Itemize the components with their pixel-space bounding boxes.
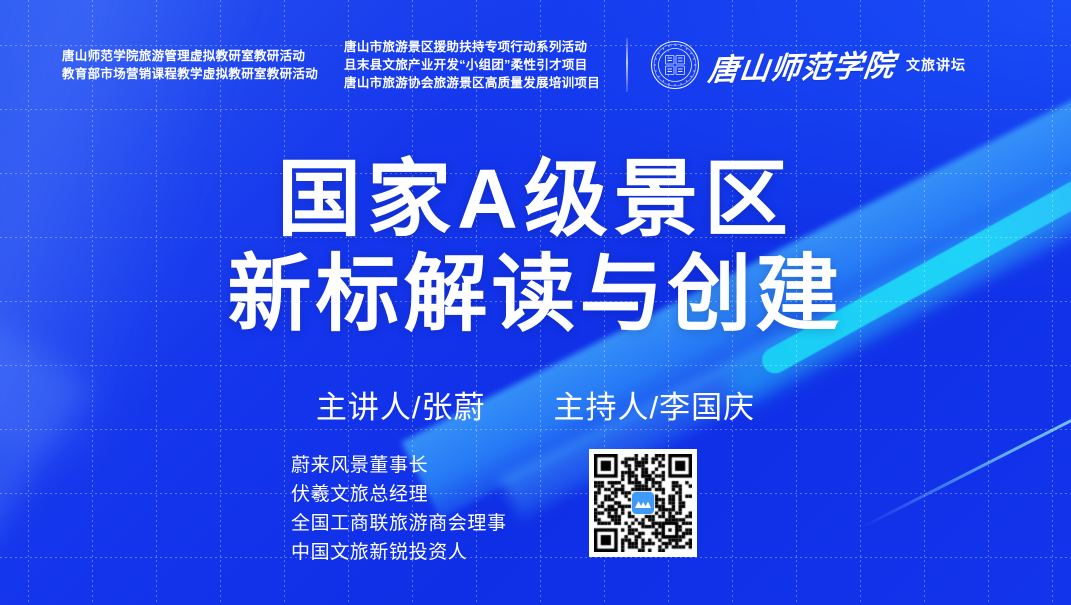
university-name: 唐山师范学院 <box>706 41 898 90</box>
event-poster: 唐山师范学院旅游管理虚拟教研室教研活动 教育部市场营销课程教学虚拟教研室教研活动… <box>0 0 1071 605</box>
speaker-bio: 蔚来风景董事长 伏羲文旅总经理 全国工商联旅游商会理事 中国文旅新锐投资人 <box>291 452 507 568</box>
header-mid-line-3: 唐山市旅游协会旅游景区高质量发展培训项目 <box>344 74 600 92</box>
header-left-line-1: 唐山师范学院旅游管理虚拟教研室教研活动 <box>62 47 318 65</box>
header-divider <box>626 38 628 92</box>
header-left-line-2: 教育部市场营销课程教学虚拟教研室教研活动 <box>62 65 318 83</box>
header-left-text-block: 唐山师范学院旅游管理虚拟教研室教研活动 教育部市场营销课程教学虚拟教研室教研活动 <box>62 47 318 83</box>
title-line-1: 国家A级景区 <box>0 152 1071 247</box>
bio-line-3: 全国工商联旅游商会理事 <box>291 510 507 539</box>
speaker-label: 主讲人/张蔚 <box>316 382 486 427</box>
bio-and-qr: 蔚来风景董事长 伏羲文旅总经理 全国工商联旅游商会理事 中国文旅新锐投资人 <box>291 452 697 568</box>
host-label: 主持人/李国庆 <box>554 382 756 427</box>
poster-header: 唐山师范学院旅游管理虚拟教研室教研活动 教育部市场营销课程教学虚拟教研室教研活动… <box>0 38 1071 92</box>
university-brand: 唐山师范学院 文旅讲坛 <box>650 40 966 90</box>
header-mid-text-block: 唐山市旅游景区援助扶持专项行动系列活动 且末县文旅产业开发“小组团”柔性引才项目… <box>344 38 600 92</box>
poster-title: 国家A级景区 新标解读与创建 <box>0 152 1071 342</box>
bio-line-1: 蔚来风景董事长 <box>291 452 507 481</box>
header-mid-line-1: 唐山市旅游景区援助扶持专项行动系列活动 <box>344 38 600 56</box>
mountain-logo-icon <box>632 492 654 514</box>
title-line-2: 新标解读与创建 <box>0 247 1071 342</box>
university-seal-icon <box>650 40 700 90</box>
presenter-row: 主讲人/张蔚 主持人/李国庆 <box>0 382 1071 427</box>
brand-subtitle: 文旅讲坛 <box>906 55 966 75</box>
bio-line-2: 伏羲文旅总经理 <box>291 481 507 510</box>
header-mid-line-2: 且末县文旅产业开发“小组团”柔性引才项目 <box>344 56 600 74</box>
bio-line-4: 中国文旅新锐投资人 <box>291 539 507 568</box>
qr-code[interactable] <box>589 449 697 557</box>
